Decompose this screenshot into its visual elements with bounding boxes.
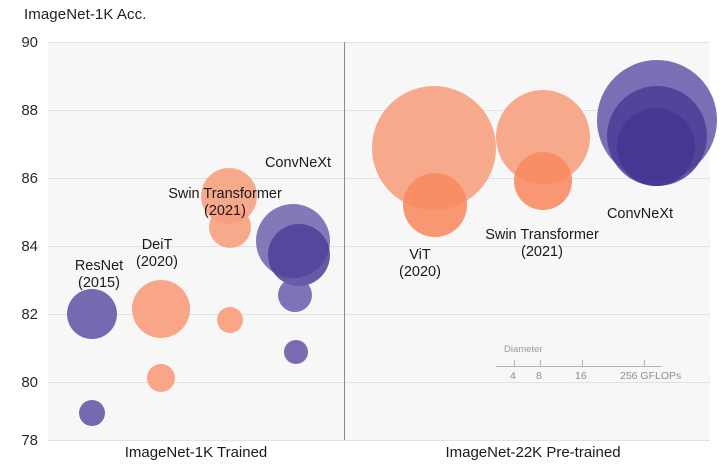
bubble-swin-left-3 (217, 307, 243, 333)
x-axis-label-left: ImageNet-1K Trained (96, 444, 296, 461)
legend-tick-256 (644, 360, 645, 366)
gridline-78 (48, 440, 710, 441)
bubble-resnet-2 (79, 400, 105, 426)
annotation-vit: ViT (2020) (384, 247, 456, 280)
legend-label-16: 16 (575, 370, 587, 382)
gridline-90 (48, 42, 710, 43)
annotation-swin-left-name: Swin Transformer (168, 186, 282, 202)
y-tick-80: 80 (0, 374, 38, 391)
y-tick-82: 82 (0, 306, 38, 323)
annotation-convnext-right: ConvNeXt (592, 206, 688, 223)
legend-tick-4 (514, 360, 515, 366)
legend-tick-16 (582, 360, 583, 366)
y-axis-title: ImageNet-1K Acc. (24, 6, 147, 23)
legend-axis-line (496, 366, 662, 367)
y-tick-86: 86 (0, 170, 38, 187)
chart-root: ImageNet-1K Acc. 90 88 86 84 82 80 78 (0, 0, 724, 472)
annotation-deit-name: DeiT (142, 237, 173, 253)
y-tick-88: 88 (0, 102, 38, 119)
annotation-swin-right-name: Swin Transformer (485, 227, 599, 243)
legend-label-256: 256 GFLOPs (620, 370, 681, 382)
y-tick-90: 90 (0, 34, 38, 51)
bubble-convnext-right-3 (617, 108, 695, 186)
bubble-convnext-left-3 (278, 278, 312, 312)
annotation-swin-left-year: (2021) (204, 203, 246, 219)
annotation-vit-name: ViT (409, 247, 431, 263)
annotation-convnext-right-name: ConvNeXt (607, 206, 673, 222)
legend-label-4: 4 (510, 370, 516, 382)
annotation-swin-right-year: (2021) (521, 244, 563, 260)
annotation-convnext-left-name: ConvNeXt (265, 155, 331, 171)
annotation-resnet-year: (2015) (78, 275, 120, 291)
legend-title: Diameter (504, 344, 543, 355)
annotation-deit-year: (2020) (136, 254, 178, 270)
legend-label-8: 8 (536, 370, 542, 382)
bubble-deit-2 (147, 364, 175, 392)
x-axis-label-right: ImageNet-22K Pre-trained (408, 444, 658, 461)
annotation-deit: DeiT (2020) (122, 237, 192, 270)
bubble-swin-right-2 (514, 152, 572, 210)
bubble-vit-2 (403, 173, 467, 237)
panel-divider (344, 42, 345, 440)
y-tick-78: 78 (0, 432, 38, 449)
legend-tick-8 (540, 360, 541, 366)
bubble-convnext-left-4 (284, 340, 308, 364)
y-tick-84: 84 (0, 238, 38, 255)
annotation-swin-left: Swin Transformer (2021) (142, 186, 308, 219)
bubble-convnext-left-2 (268, 224, 330, 286)
annotation-convnext-left: ConvNeXt (250, 155, 346, 172)
annotation-swin-right: Swin Transformer (2021) (462, 227, 622, 260)
annotation-resnet-name: ResNet (75, 258, 123, 274)
annotation-vit-year: (2020) (399, 264, 441, 280)
bubble-resnet-1 (67, 289, 117, 339)
